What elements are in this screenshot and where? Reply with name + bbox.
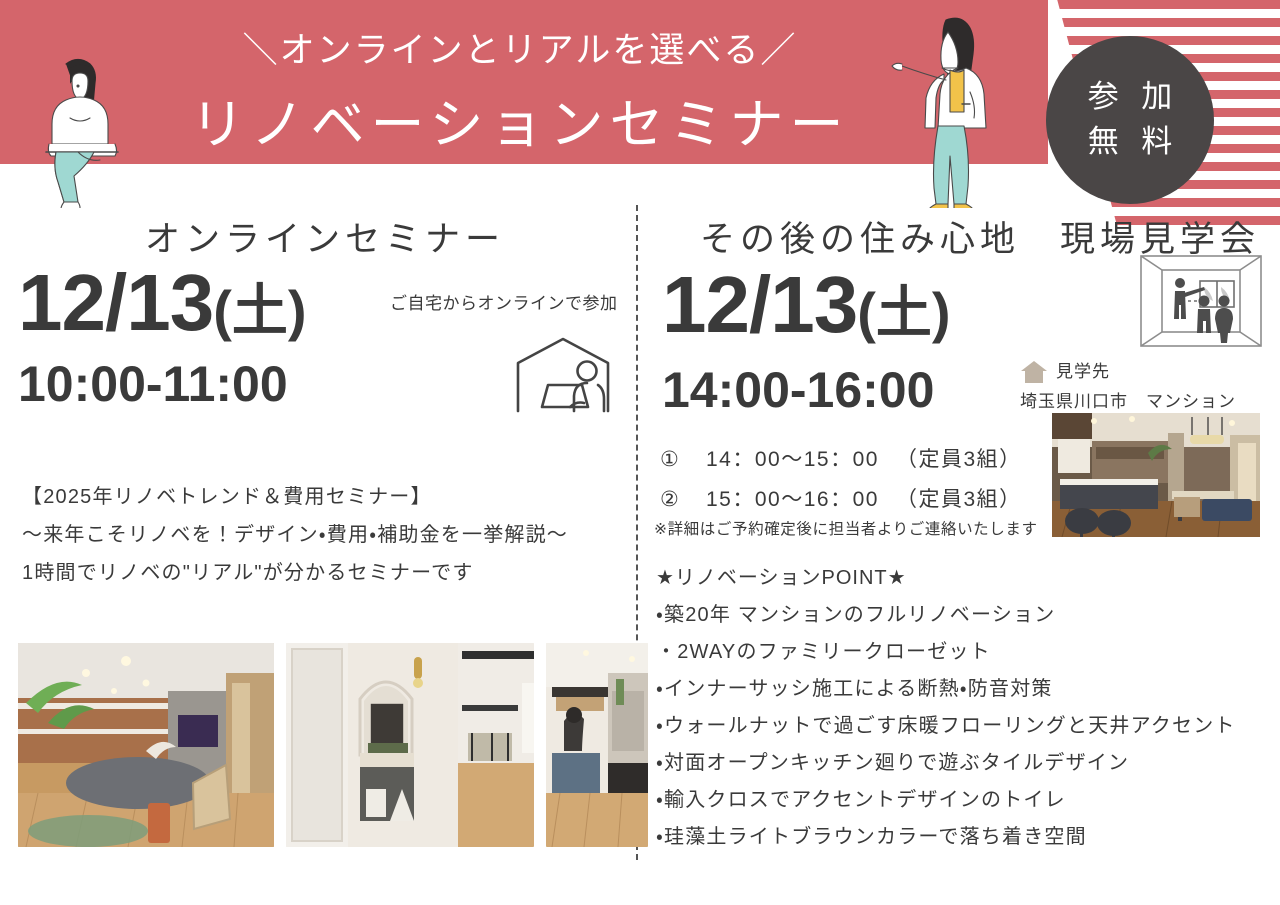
slot-capacity: （定員3組） — [896, 480, 1022, 520]
point-item: ・ウォールナットで過ごす床暖フローリングと天井アクセント — [656, 708, 1276, 745]
standing-woman-pointing-illustration — [884, 8, 1004, 208]
photo-venue-dining-kitchen — [1052, 413, 1260, 537]
right-date-block: 12/13(土) — [662, 263, 951, 347]
left-date: 12/13 — [18, 258, 213, 347]
header-kicker: ＼オンラインとリアルを選べる／ — [200, 22, 840, 73]
badge-line-2: 無 料 — [1081, 120, 1180, 165]
photo-living-room — [18, 643, 274, 847]
tour-slot-row: ② 15：00～16：00 （定員3組） — [660, 480, 1060, 520]
slot-number: ② — [660, 480, 706, 520]
left-day-of-week: (土) — [213, 279, 306, 342]
photo-arch-niche — [286, 643, 534, 847]
left-column-heading: オンラインセミナー — [14, 211, 636, 262]
point-item: ・珪藻土ライトブラウンカラーで落ち着き空間 — [656, 819, 1276, 856]
seated-woman-illustration — [26, 48, 136, 208]
tour-slot-row: ① 14：00～15：00 （定員3組） — [660, 440, 1060, 480]
point-item: ・2WAYのファミリークローゼット — [656, 634, 1276, 671]
left-photo-strip — [18, 643, 648, 847]
point-item: ・築20年 マンションのフルリノベーション — [656, 597, 1276, 634]
venue-label: 見学先 — [1056, 357, 1110, 387]
left-desc-line-1: 【2025年リノベトレンド＆費用セミナー】 — [22, 478, 632, 516]
slot-number: ① — [660, 440, 706, 480]
house-laptop-person-icon — [508, 333, 618, 417]
right-date: 12/13 — [662, 260, 857, 349]
left-date-block: 12/13(土) — [18, 261, 307, 345]
right-time: 14:00-16:00 — [662, 363, 934, 418]
right-column-site-tour: その後の住み心地 現場見学会 12/13(土) 14:00-16:00 — [640, 205, 1280, 262]
flyer-page: ＼オンラインとリアルを選べる／ リノベーションセミナー 参 加 無 料 — [0, 0, 1280, 905]
room-tour-people-icon — [1138, 253, 1264, 349]
right-day-of-week: (土) — [857, 281, 950, 344]
tour-slot-list: ① 14：00～15：00 （定員3組） ② 15：00～16：00 （定員3組… — [660, 440, 1060, 520]
renovation-points: ★リノベーションPOINT★ ・築20年 マンションのフルリノベーション ・2W… — [656, 560, 1276, 856]
points-title: ★リノベーションPOINT★ — [656, 560, 1276, 597]
left-participation-note: ご自宅からオンラインで参加 — [390, 289, 618, 314]
house-icon — [1020, 360, 1048, 384]
badge-line-1: 参 加 — [1081, 75, 1180, 120]
left-time: 10:00-11:00 — [18, 357, 288, 412]
left-desc-line-3: 1時間でリノベの"リアル"が分かるセミナーです — [22, 554, 632, 592]
slot-time: 14：00～15：00 — [706, 440, 896, 480]
slot-capacity: （定員3組） — [896, 440, 1022, 480]
point-item: ・インナーサッシ施工による断熱・防音対策 — [656, 671, 1276, 708]
left-description: 【2025年リノベトレンド＆費用セミナー】 ～来年こそリノベを！デザイン・費用・… — [22, 478, 632, 592]
point-item: ・輸入クロスでアクセントデザインのトイレ — [656, 782, 1276, 819]
venue-info: 見学先 埼玉県川口市 マンション — [1020, 357, 1236, 417]
slot-time: 15：00～16：00 — [706, 480, 896, 520]
left-column-online-seminar: オンラインセミナー 12/13(土) 10:00-11:00 ご自宅からオンライ… — [0, 205, 636, 262]
point-item: ・対面オープンキッチン廻りで遊ぶタイルデザイン — [656, 745, 1276, 782]
photo-kitchen-corner — [546, 643, 648, 847]
header-title: リノベーションセミナー — [150, 80, 890, 159]
tour-disclaimer: ※詳細はご予約確定後に担当者よりご連絡いたします — [654, 517, 1038, 539]
left-desc-line-2: ～来年こそリノベを！デザイン・費用・補助金を一挙解説～ — [22, 516, 632, 554]
free-participation-badge: 参 加 無 料 — [1046, 36, 1214, 204]
